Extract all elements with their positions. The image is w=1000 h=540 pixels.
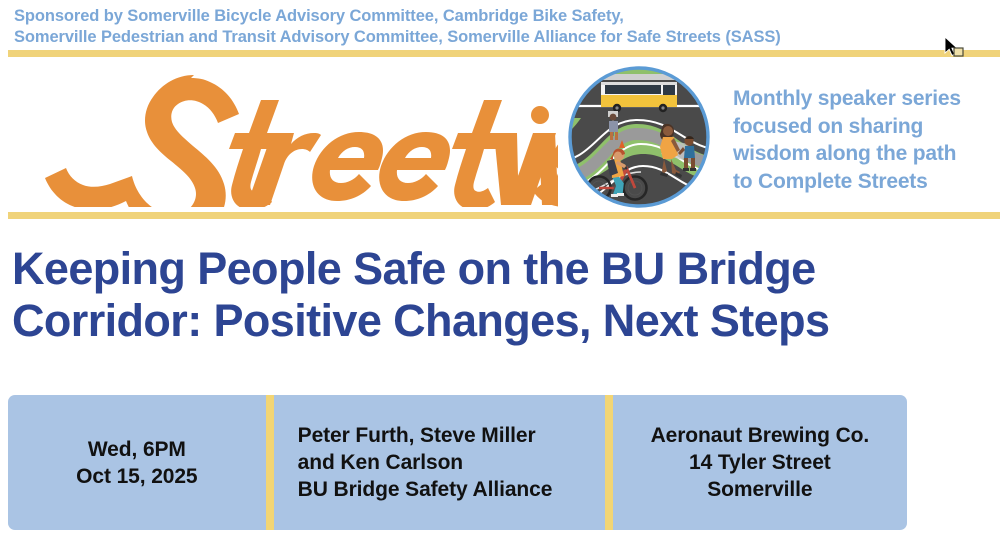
venue-name: Aeronaut Brewing Co. (651, 422, 870, 449)
series-tagline: Monthly speaker series focused on sharin… (733, 85, 993, 195)
event-speakers: Peter Furth, Steve Miller and Ken Carlso… (274, 395, 605, 530)
complete-streets-illustration (563, 62, 715, 212)
sponsor-line-2: Somerville Pedestrian and Transit Adviso… (14, 27, 914, 48)
bottom-divider-rule (8, 212, 1000, 219)
tagline-line-2: focused on sharing (733, 113, 993, 141)
event-date: Oct 15, 2025 (76, 463, 197, 490)
event-venue: Aeronaut Brewing Co. 14 Tyler Street Som… (613, 395, 907, 530)
info-divider-2 (605, 395, 613, 530)
sponsor-credits: Sponsored by Somerville Bicycle Advisory… (14, 6, 914, 48)
event-title-line-2: Corridor: Positive Changes, Next Steps (12, 295, 988, 347)
event-time: Wed, 6PM (88, 436, 186, 463)
speaker-names-line-1: Peter Furth, Steve Miller (298, 422, 536, 449)
brand-band: Monthly speaker series focused on sharin… (0, 57, 1000, 212)
event-title-line-1: Keeping People Safe on the BU Bridge (12, 243, 988, 295)
streetwise-wordmark (18, 67, 558, 207)
top-divider-rule (8, 50, 1000, 57)
speaker-affiliation: BU Bridge Safety Alliance (298, 476, 553, 503)
tagline-line-1: Monthly speaker series (733, 85, 993, 113)
tagline-line-4: to Complete Streets (733, 168, 993, 196)
event-details-bar: Wed, 6PM Oct 15, 2025 Peter Furth, Steve… (8, 395, 907, 530)
event-flyer: Sponsored by Somerville Bicycle Advisory… (0, 0, 1000, 540)
info-divider-1 (266, 395, 274, 530)
event-title: Keeping People Safe on the BU Bridge Cor… (12, 243, 988, 347)
venue-street: 14 Tyler Street (689, 449, 831, 476)
event-datetime: Wed, 6PM Oct 15, 2025 (8, 395, 266, 530)
speaker-names-line-2: and Ken Carlson (298, 449, 463, 476)
tagline-line-3: wisdom along the path (733, 140, 993, 168)
venue-city: Somerville (707, 476, 812, 503)
sponsor-line-1: Sponsored by Somerville Bicycle Advisory… (14, 6, 914, 27)
